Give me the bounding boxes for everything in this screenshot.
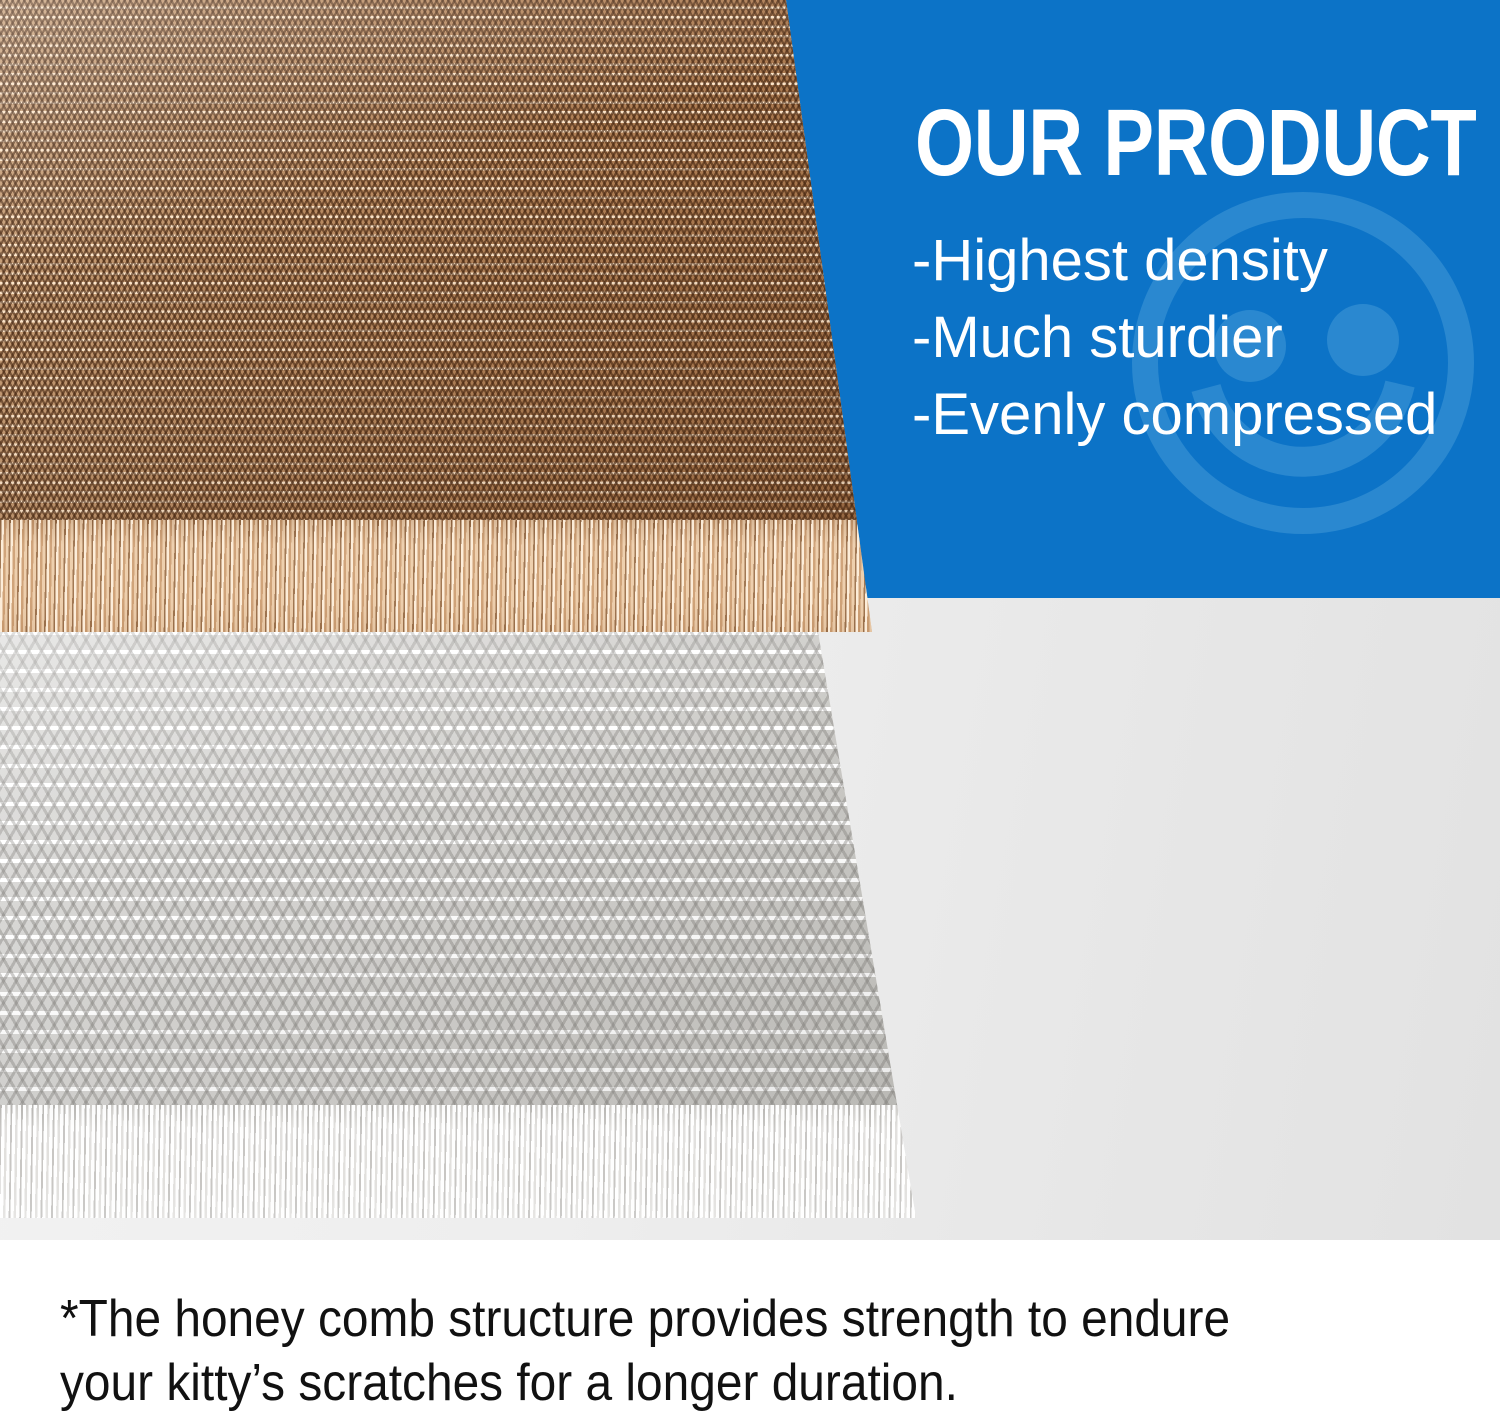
our-product-bullet-1: -Highest density — [912, 222, 1437, 299]
our-product-bullet-2: -Much sturdier — [912, 299, 1437, 376]
tan-honeycomb-surface — [0, 0, 875, 522]
comparison-section: OUR PRODUCT -Highest density -Much sturd… — [0, 0, 1500, 1240]
white-slab-edge — [0, 1105, 930, 1221]
our-product-bullet-list: -Highest density -Much sturdier -Evenly … — [912, 222, 1437, 453]
caption-line-2: your kitty’s scratches for a longer dura… — [60, 1352, 1357, 1416]
our-product-bullet-3: -Evenly compressed — [912, 376, 1437, 453]
our-product-photo — [0, 0, 875, 640]
infographic-root: OUR PRODUCT -Highest density -Much sturd… — [0, 0, 1500, 1423]
caption-line-1: *The honey comb structure provides stren… — [60, 1288, 1357, 1352]
caption-text: *The honey comb structure provides stren… — [60, 1288, 1357, 1416]
our-product-title: OUR PRODUCT — [915, 96, 1476, 191]
white-honeycomb-surface — [0, 632, 930, 1110]
tan-slab-edge — [0, 520, 875, 634]
others-photo — [0, 632, 930, 1222]
